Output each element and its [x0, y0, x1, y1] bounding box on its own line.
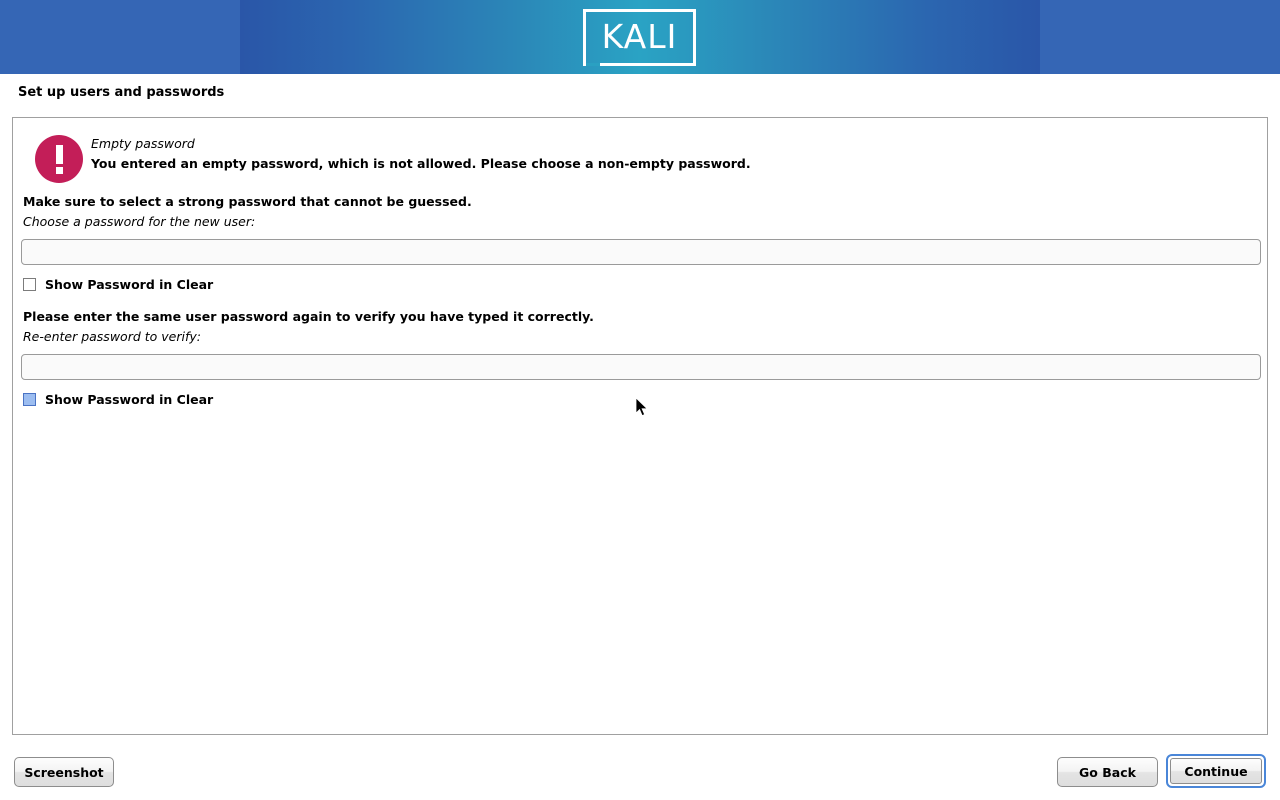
show-password-checkbox-2[interactable]: [23, 393, 36, 406]
password-hint: Make sure to select a strong password th…: [23, 194, 472, 209]
go-back-button[interactable]: Go Back: [1057, 757, 1158, 787]
mouse-pointer-icon: [636, 398, 650, 418]
exclamation-dot: [56, 167, 63, 174]
screenshot-button[interactable]: Screenshot: [14, 757, 114, 787]
error-text: You entered an empty password, which is …: [91, 156, 751, 171]
show-password-label-1: Show Password in Clear: [45, 277, 213, 292]
error-exclamation-icon: [35, 135, 83, 183]
page-title: Set up users and passwords: [18, 85, 224, 100]
show-password-checkbox-row-2[interactable]: Show Password in Clear: [23, 392, 213, 407]
kali-logo: KALI: [583, 9, 696, 66]
installer-banner: KALI: [0, 0, 1280, 74]
error-title: Empty password: [91, 136, 195, 151]
main-panel: Empty password You entered an empty pass…: [12, 117, 1268, 735]
verify-field-label: Re-enter password to verify:: [23, 329, 201, 344]
password-field-label: Choose a password for the new user:: [23, 214, 255, 229]
exclamation-stem: [56, 145, 63, 164]
verify-hint: Please enter the same user password agai…: [23, 309, 594, 324]
show-password-checkbox-row-1[interactable]: Show Password in Clear: [23, 277, 213, 292]
password-input[interactable]: [21, 239, 1261, 265]
kali-logo-text: KALI: [583, 9, 696, 66]
verify-password-input[interactable]: [21, 354, 1261, 380]
continue-button[interactable]: Continue: [1170, 758, 1262, 784]
show-password-label-2: Show Password in Clear: [45, 392, 213, 407]
show-password-checkbox-1[interactable]: [23, 278, 36, 291]
